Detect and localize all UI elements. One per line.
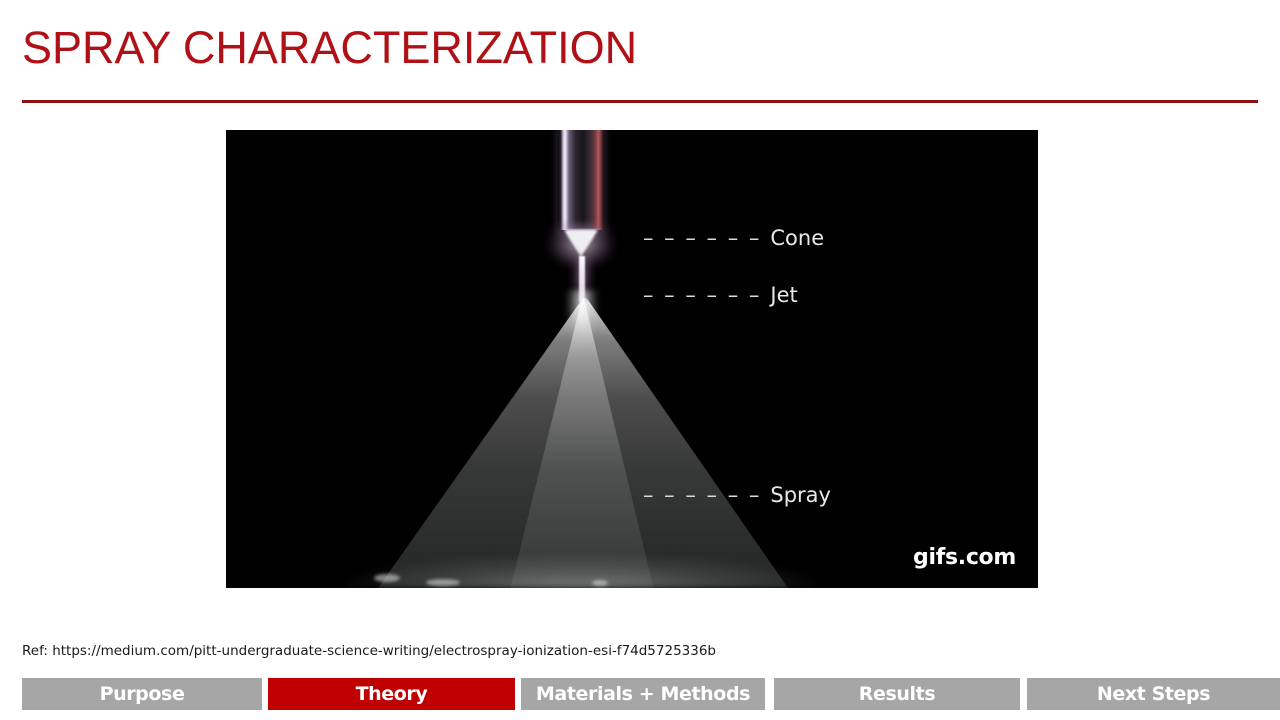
leader-dashes-icon: – – – – – – [643,226,761,250]
nav-item-label: Theory [356,683,428,705]
page-title: SPRAY CHARACTERIZATION [22,20,637,76]
reference-citation: Ref: https://medium.com/pitt-undergradua… [22,643,716,659]
nav-item-label: Purpose [100,683,185,705]
floor-speck [374,574,400,582]
spray-floor-glow [346,554,816,588]
nav-item-label: Results [859,683,935,705]
electrospray-figure: – – – – – – Cone – – – – – – Jet – – – –… [226,130,1038,588]
nav-item-next-steps[interactable]: Next Steps [1027,678,1280,710]
leader-dashes-icon: – – – – – – [643,283,761,307]
capillary-needle [558,130,604,232]
leader-dashes-icon: – – – – – – [643,483,761,507]
annotation-cone: – – – – – – Cone [643,226,824,250]
nav-item-theory[interactable]: Theory [268,678,515,710]
nav-item-label: Materials + Methods [536,683,750,705]
annotation-jet-label: Jet [770,283,797,307]
annotation-spray-label: Spray [770,483,831,507]
floor-speck [426,579,460,586]
nav-item-materials-methods[interactable]: Materials + Methods [521,678,765,710]
annotation-jet: – – – – – – Jet [643,283,798,307]
nav-item-purpose[interactable]: Purpose [22,678,262,710]
annotation-spray: – – – – – – Spray [643,483,831,507]
annotation-cone-label: Cone [770,226,824,250]
gifs-watermark: gifs.com [913,545,1016,570]
spray-plume-tip [566,290,598,344]
nav-item-label: Next Steps [1097,683,1210,705]
section-navigation: Purpose Theory Materials + Methods Resul… [0,678,1280,720]
title-divider [22,100,1258,103]
nav-item-results[interactable]: Results [774,678,1020,710]
floor-speck [592,580,608,586]
